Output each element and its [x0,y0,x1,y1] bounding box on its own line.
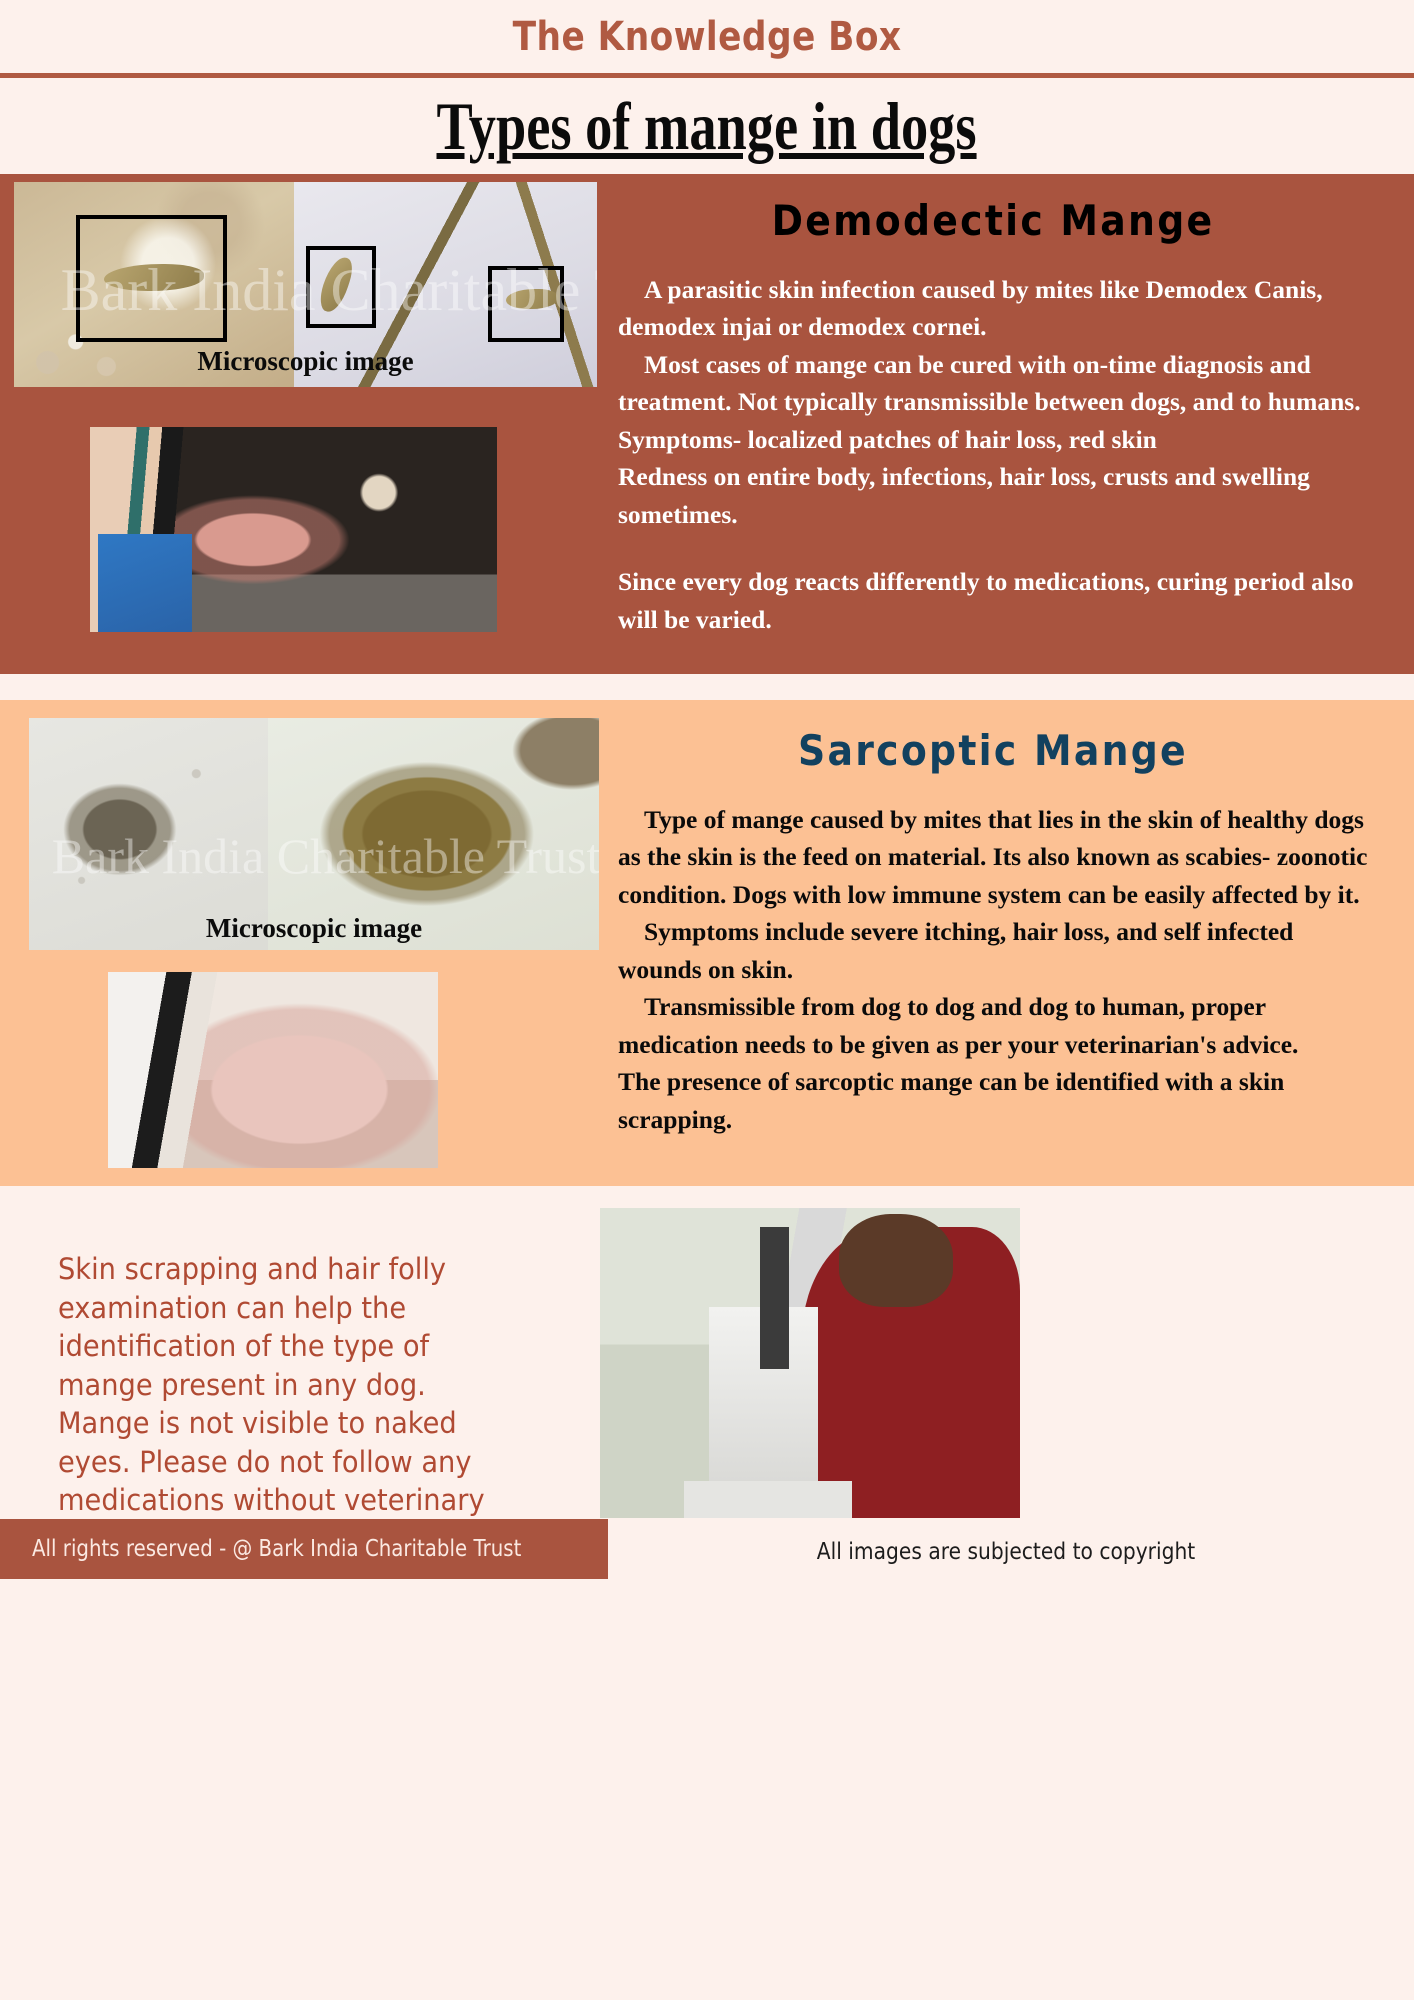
demodectic-dog-photo [90,427,497,632]
demodectic-media-column: Bark India Charitable Trust Microscopic … [0,174,600,674]
spacer [618,533,1368,563]
technician-head [839,1214,952,1307]
footer-image-column [600,1226,1414,1579]
demodectic-paragraph-2: Most cases of mange can be cured with on… [618,346,1368,421]
microscope-arm [760,1227,789,1370]
sarcoptic-paragraph-3: Transmissible from dog to dog and dog to… [618,988,1368,1063]
sarcoptic-heading: Sarcoptic Mange [656,726,1331,775]
section-sarcoptic-mange: Bark India Charitable Trust Microscopic … [0,700,1414,1186]
footer-zone: Skin scrapping and hair folly examinatio… [0,1186,1414,1579]
rights-bar: All rights reserved - @ Bark India Chari… [0,1519,608,1579]
demodectic-micro-caption: Microscopic image [14,346,597,377]
sarcoptic-text-column: Sarcoptic Mange Type of mange caused by … [600,700,1414,1186]
demodectic-heading: Demodectic Mange [656,196,1331,245]
microscope-base [684,1481,852,1518]
section-demodectic-mange: Bark India Charitable Trust Microscopic … [0,174,1414,674]
mite-shape [506,289,558,310]
sarcoptic-dog-photo [108,972,438,1168]
demodectic-text-column: Demodectic Mange A parasitic skin infect… [600,174,1414,674]
sarcoptic-paragraph-1: Type of mange caused by mites that lies … [618,801,1368,913]
blue-object [98,534,192,632]
rights-text: All rights reserved - @ Bark India Chari… [32,1536,521,1562]
demodectic-microscopic-photo: Bark India Charitable Trust Microscopic … [14,182,597,387]
brand-title: The Knowledge Box [513,14,902,60]
sarcoptic-paragraph-2: Symptoms include severe itching, hair lo… [618,913,1368,988]
demodectic-paragraph-5: Since every dog reacts differently to me… [618,563,1368,638]
page-title-area: Types of mange in dogs [0,78,1414,174]
sarcoptic-paragraph-4: The presence of sarcoptic mange can be i… [618,1063,1368,1138]
copyright-text: All images are subjected to copyright [647,1539,1365,1565]
footer-note: Skin scrapping and hair folly examinatio… [58,1250,511,1559]
page-title: Types of mange in dogs [437,87,977,166]
sarcoptic-micro-caption: Microscopic image [29,913,599,944]
brand-header: The Knowledge Box [0,0,1414,78]
lab-technician-photo [600,1208,1020,1518]
sarcoptic-microscopic-photo: Bark India Charitable Trust Microscopic … [29,718,599,950]
demodectic-paragraph-4: Redness on entire body, infections, hair… [618,458,1368,533]
demodectic-paragraph-3: Symptoms- localized patches of hair loss… [618,421,1368,458]
sarcoptic-media-column: Bark India Charitable Trust Microscopic … [0,700,600,1186]
demodectic-paragraph-1: A parasitic skin infection caused by mit… [618,271,1368,346]
section-divider [0,674,1414,700]
